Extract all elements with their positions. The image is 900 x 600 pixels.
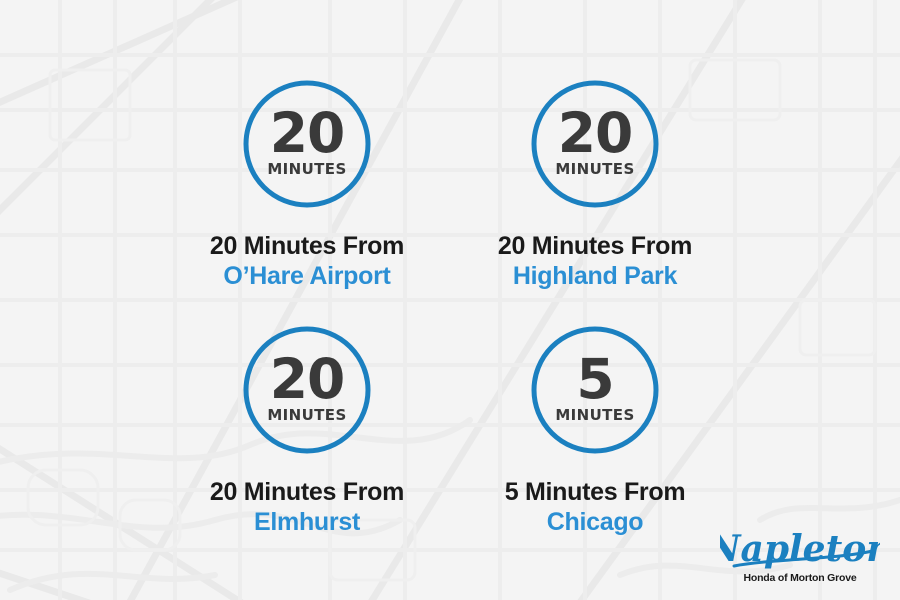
badge-number: 20 xyxy=(270,354,345,405)
napleton-logo: Napleton Honda of Morton Grove xyxy=(720,531,880,584)
distance-badge-ohare-airport: 20 MINUTES 20 Minutes From O’Hare Airpor… xyxy=(157,78,457,291)
badge-place-name: Highland Park xyxy=(445,262,745,292)
badge-caption: 20 Minutes From O’Hare Airport xyxy=(157,232,457,291)
badge-headline: 20 Minutes From xyxy=(157,478,457,508)
badge-place-name: Elmhurst xyxy=(157,508,457,538)
badge-headline: 20 Minutes From xyxy=(445,232,745,262)
badge-headline: 20 Minutes From xyxy=(157,232,457,262)
badge-place-name: O’Hare Airport xyxy=(157,262,457,292)
badge-place-name: Chicago xyxy=(445,508,745,538)
badge-unit-label: MINUTES xyxy=(555,406,634,424)
badge-unit-label: MINUTES xyxy=(555,160,634,178)
badge-caption: 5 Minutes From Chicago xyxy=(445,478,745,537)
minutes-ring-icon: 20 MINUTES xyxy=(529,78,661,210)
distance-badge-elmhurst: 20 MINUTES 20 Minutes From Elmhurst xyxy=(157,324,457,537)
badge-caption: 20 Minutes From Elmhurst xyxy=(157,478,457,537)
badge-number: 5 xyxy=(576,354,613,405)
logo-tagline: Honda of Morton Grove xyxy=(720,572,880,584)
napleton-wordmark-icon: Napleton xyxy=(720,531,880,573)
badge-caption: 20 Minutes From Highland Park xyxy=(445,232,745,291)
distance-badge-chicago: 5 MINUTES 5 Minutes From Chicago xyxy=(445,324,745,537)
badge-headline: 5 Minutes From xyxy=(445,478,745,508)
badge-unit-label: MINUTES xyxy=(267,160,346,178)
minutes-ring-icon: 20 MINUTES xyxy=(241,324,373,456)
badge-number: 20 xyxy=(558,108,633,159)
minutes-ring-icon: 5 MINUTES xyxy=(529,324,661,456)
minutes-ring-icon: 20 MINUTES xyxy=(241,78,373,210)
badge-unit-label: MINUTES xyxy=(267,406,346,424)
badge-number: 20 xyxy=(270,108,345,159)
distance-badge-highland-park: 20 MINUTES 20 Minutes From Highland Park xyxy=(445,78,745,291)
